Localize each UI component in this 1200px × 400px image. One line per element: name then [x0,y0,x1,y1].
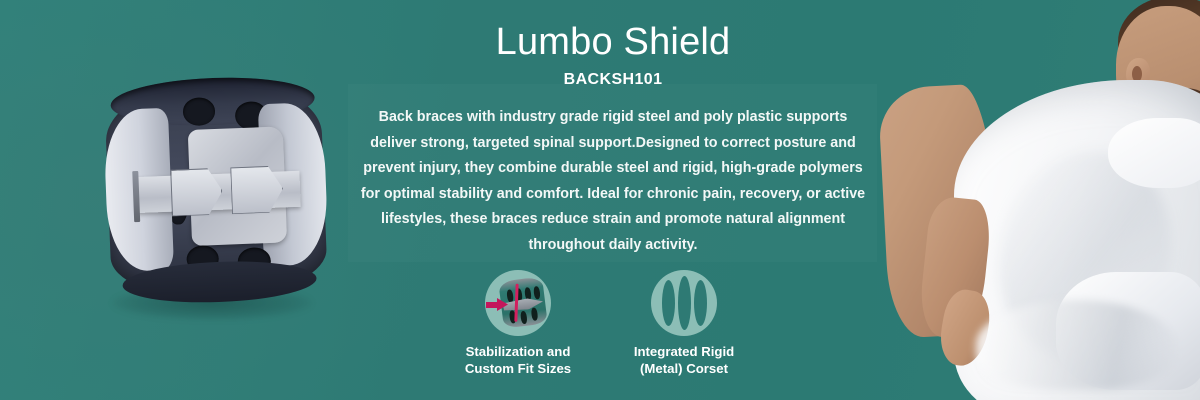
rigid-metal-stays-icon [651,270,717,336]
back-brace-illustration [104,78,328,300]
corset-stay [662,280,675,326]
mini-brace-vent [533,286,541,300]
tshirt-fold [976,300,1176,390]
product-image [78,72,358,332]
feature-item-rigid-corset[interactable]: Integrated Rigid (Metal) Corset [628,270,740,377]
feature-label: Integrated Rigid (Metal) Corset [628,343,740,377]
product-title: Lumbo Shield [348,23,878,63]
brace-with-arrow-icon [485,270,551,336]
product-sku: BACKSH101 [348,71,878,89]
product-description: Back braces with industry grade rigid st… [356,105,870,258]
model-photo [880,0,1200,400]
product-banner: Lumbo Shield BACKSH101 Back braces with … [0,0,1200,400]
feature-list: Stabilization and Custom Fit Sizes Integ… [462,270,742,377]
arrow-right-icon [486,298,508,311]
feature-item-stabilization[interactable]: Stabilization and Custom Fit Sizes [462,270,574,377]
arrow-head [497,298,508,311]
corset-stay [678,276,691,330]
mini-brace-vent [520,311,528,325]
mini-brace-vent [531,307,539,321]
tshirt-collar [1108,118,1200,188]
corset-stay [694,280,707,326]
feature-label: Stabilization and Custom Fit Sizes [462,343,574,377]
